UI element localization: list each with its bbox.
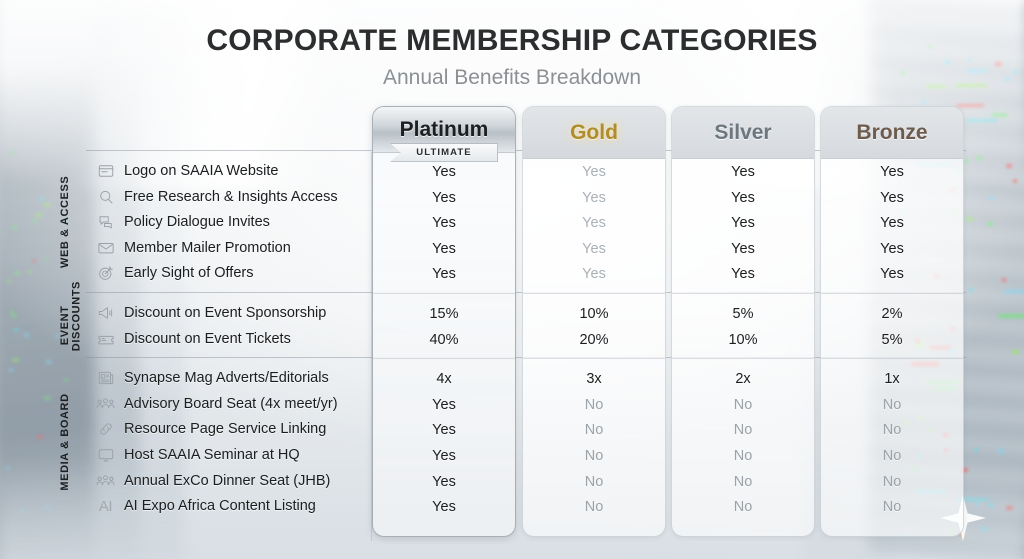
slide-root: CORPORATE MEMBERSHIP CATEGORIES Annual B… [0,0,1024,559]
benefits-table: WEB & ACCESSEVENT DISCOUNTSMEDIA & BOARD… [60,106,966,541]
browser-window-icon [96,162,115,181]
card-section-divider [523,358,665,359]
link-chain-icon [96,420,115,439]
card-section-divider [373,293,515,294]
value-cell: Yes [373,236,515,262]
server-led [35,213,43,217]
megaphone-icon [96,304,115,323]
people-group-icon [96,471,115,490]
server-led [1004,290,1024,294]
server-led [28,270,32,274]
section-rail-label: WEB & ACCESS [60,158,86,286]
value-cell: Yes [821,185,963,211]
value-cell: 15% [373,301,515,327]
value-cell: Yes [672,159,814,185]
card-section-divider [672,358,814,359]
server-led [11,225,19,229]
value-cell: Yes [821,210,963,236]
tier-values: YesYesYesYesYes2%5%1xNoNoNoNoNo [821,159,963,537]
tier-values: YesYesYesYesYes10%20%3xNoNoNoNoNo [523,159,665,537]
value-cell: No [821,417,963,443]
value-cell: Yes [821,159,963,185]
benefit-label: Resource Page Service Linking [124,421,326,437]
server-led [1012,350,1018,354]
benefit-row: Advisory Board Seat (4x meet/yr) [96,391,338,417]
value-cell: No [821,494,963,520]
value-cell: Yes [672,261,814,287]
value-cell: 1x [821,366,963,392]
search-icon [96,187,115,206]
benefit-label: Member Mailer Promotion [124,240,291,256]
value-cell: 20% [523,327,665,353]
server-led [9,310,13,314]
value-cell: Yes [373,261,515,287]
value-cell: No [821,469,963,495]
value-cell: Yes [373,210,515,236]
benefit-row: Discount on Event Sponsorship [96,300,326,326]
value-cell: No [672,417,814,443]
people-group-icon [96,394,115,413]
server-led [967,217,974,221]
tier-name: Bronze [856,121,927,145]
benefit-row: Free Research & Insights Access [96,184,338,210]
value-cell: No [672,392,814,418]
section-rail-label: EVENT DISCOUNTS [60,300,86,351]
value-cell: 5% [821,327,963,353]
benefit-label: Policy Dialogue Invites [124,214,270,230]
value-cell: Yes [373,443,515,469]
tier-card-gold[interactable]: GoldYesYesYesYesYes10%20%3xNoNoNoNoNo [522,106,666,537]
benefit-row: Logo on SAAIA Website [96,158,279,184]
benefit-row: Synapse Mag Adverts/Editorials [96,365,329,391]
card-section-divider [523,293,665,294]
value-cell: Yes [672,210,814,236]
value-cell: Yes [821,236,963,262]
tier-header-bronze: Bronze [821,107,963,159]
benefit-row: Resource Page Service Linking [96,416,326,442]
benefit-row: Discount on Event Tickets [96,326,291,352]
server-led [987,222,992,226]
server-led [38,197,45,201]
card-section-divider [672,293,814,294]
value-cell: Yes [373,469,515,495]
value-cell: Yes [373,392,515,418]
target-icon [96,264,115,283]
value-cell: Yes [523,210,665,236]
benefit-label: AI Expo Africa Content Listing [124,498,316,514]
tier-name: Gold [570,121,618,145]
tier-header-silver: Silver [672,107,814,159]
page-title: CORPORATE MEMBERSHIP CATEGORIES [0,24,1024,58]
section-rail-label: MEDIA & BOARD [60,365,86,519]
value-cell: No [821,443,963,469]
server-led [13,271,21,275]
server-led [11,314,17,318]
envelope-icon [96,238,115,257]
card-section-divider [821,293,963,294]
value-cell: 2x [672,366,814,392]
ai-text-icon: AI [96,497,115,516]
tier-card-bronze[interactable]: BronzeYesYesYesYesYes2%5%1xNoNoNoNoNo [820,106,964,537]
server-led [23,333,30,337]
server-led [32,219,38,223]
value-cell: No [523,392,665,418]
benefit-row: Member Mailer Promotion [96,235,291,261]
tier-header-gold: Gold [523,107,665,159]
card-section-divider [821,358,963,359]
value-cell: No [672,494,814,520]
benefit-row: Early Sight of Offers [96,260,253,286]
server-led [12,358,19,362]
value-cell: Yes [523,159,665,185]
tier-name: Platinum [400,118,489,142]
value-cell: Yes [672,236,814,262]
value-cell: No [523,443,665,469]
newspaper-icon [96,369,115,388]
value-cell: No [523,469,665,495]
value-cell: No [523,417,665,443]
benefit-row: Policy Dialogue Invites [96,209,270,235]
benefit-label: Discount on Event Sponsorship [124,305,326,321]
server-led [43,396,51,400]
value-cell: Yes [373,494,515,520]
ultimate-ribbon-badge: ULTIMATE [390,143,498,162]
server-led [32,259,37,263]
value-cell: 5% [672,301,814,327]
benefit-row: AIAI Expo Africa Content Listing [96,493,316,519]
ticket-icon [96,329,115,348]
benefit-row: Host SAAIA Seminar at HQ [96,442,300,468]
tier-values: YesYesYesYesYes5%10%2xNoNoNoNoNo [672,159,814,537]
benefit-label: Annual ExCo Dinner Seat (JHB) [124,473,330,489]
benefit-label: Advisory Board Seat (4x meet/yr) [124,396,338,412]
server-led [45,360,52,364]
tier-values: YesYesYesYesYes15%40%4xYesYesYesYesYes [373,153,515,532]
server-led [998,449,1004,453]
value-cell: 10% [523,301,665,327]
tier-card-platinum[interactable]: PlatinumULTIMATEYesYesYesYesYes15%40%4xY… [372,106,516,537]
benefit-label: Discount on Event Tickets [124,331,291,347]
benefit-label: Synapse Mag Adverts/Editorials [124,370,329,386]
value-cell: 3x [523,366,665,392]
section-rail-column: WEB & ACCESSEVENT DISCOUNTSMEDIA & BOARD [60,106,86,541]
value-cell: Yes [373,159,515,185]
value-cell: 4x [373,366,515,392]
card-section-divider [373,358,515,359]
monitor-icon [96,446,115,465]
value-cell: 10% [672,327,814,353]
value-cell: Yes [373,417,515,443]
value-cell: Yes [373,185,515,211]
value-cell: Yes [523,185,665,211]
tier-name: Silver [714,121,771,145]
server-led [13,328,19,332]
benefit-label: Early Sight of Offers [124,265,253,281]
value-cell: 2% [821,301,963,327]
value-cell: 40% [373,327,515,353]
chat-bubbles-icon [96,213,115,232]
value-cell: Yes [821,261,963,287]
value-cell: No [821,392,963,418]
header: CORPORATE MEMBERSHIP CATEGORIES Annual B… [0,24,1024,90]
server-led [998,314,1024,318]
benefit-label: Free Research & Insights Access [124,189,338,205]
value-cell: Yes [672,185,814,211]
benefit-row: Annual ExCo Dinner Seat (JHB) [96,468,330,494]
tier-card-silver[interactable]: SilverYesYesYesYesYes5%10%2xNoNoNoNoNo [671,106,815,537]
value-cell: No [672,469,814,495]
tier-header-platinum: PlatinumULTIMATE [373,107,515,153]
value-cell: No [523,494,665,520]
benefit-label: Logo on SAAIA Website [124,163,279,179]
server-led [1002,278,1006,282]
value-cell: Yes [523,236,665,262]
benefit-label-column: WEB & ACCESSEVENT DISCOUNTSMEDIA & BOARD… [60,106,372,541]
benefit-label: Host SAAIA Seminar at HQ [124,447,300,463]
value-cell: No [672,443,814,469]
value-cell: Yes [523,261,665,287]
page-subtitle: Annual Benefits Breakdown [0,66,1024,90]
